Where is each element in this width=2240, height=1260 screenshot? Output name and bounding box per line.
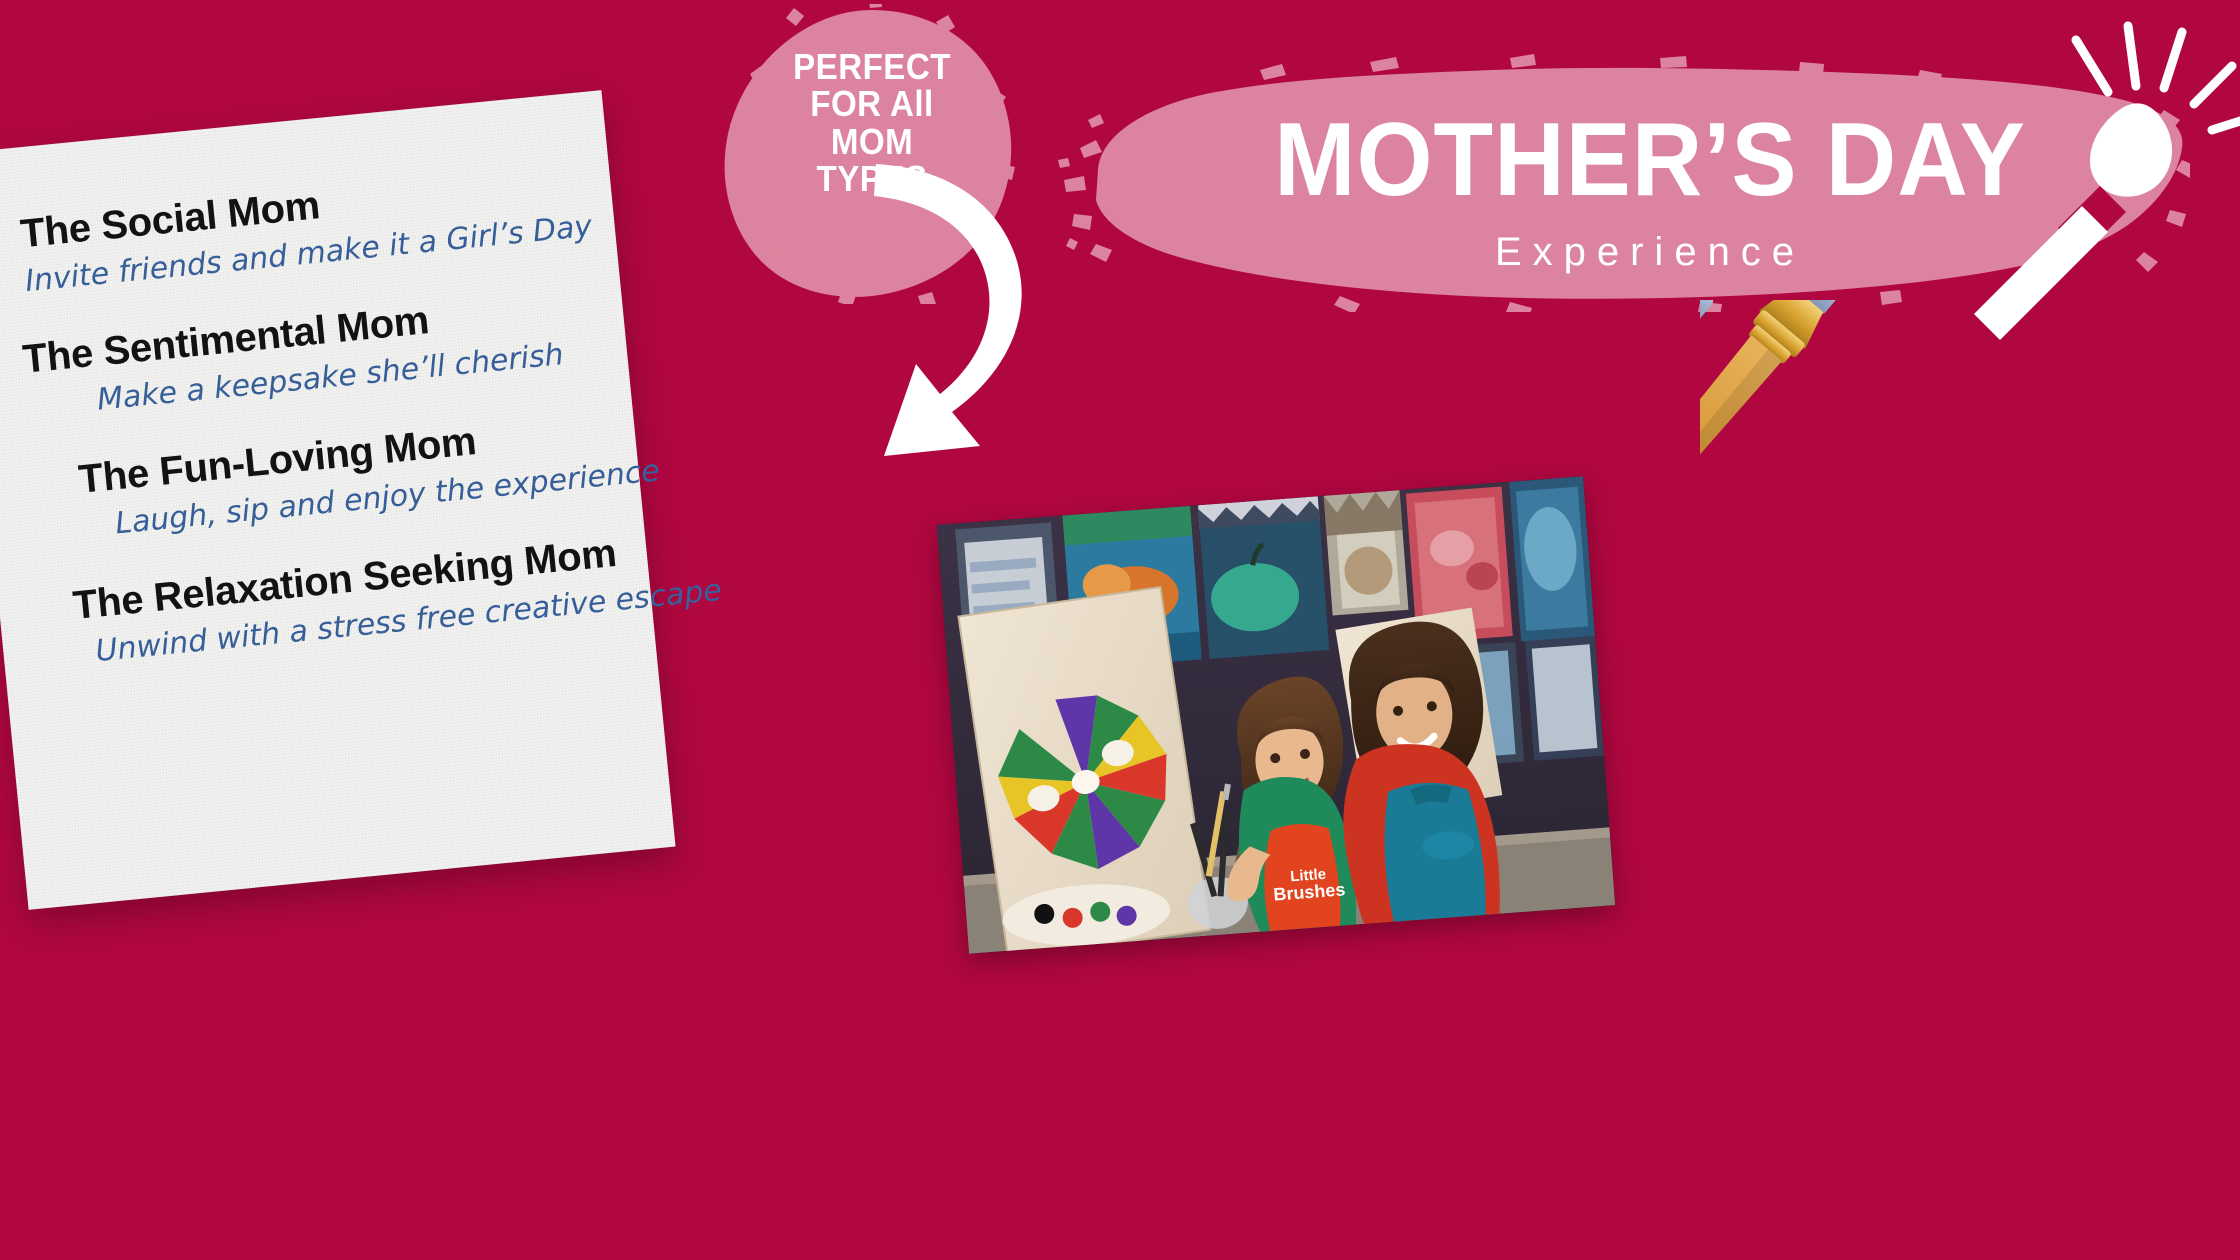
page-subtitle: Experience [1230,230,2070,275]
photo-content: Little Brushes [937,476,1615,953]
list-item: The Social Mom Invite friends and make i… [9,160,577,299]
list-item: The Fun-Loving Mom Laugh, sip and enjoy … [33,408,601,547]
white-paintbrush-sparkle-icon [1960,0,2240,340]
mom-types-list: The Social Mom Invite friends and make i… [0,90,676,910]
list-item: The Relaxation Seeking Mom Unwind with a… [45,533,613,672]
crossed-paintbrushes-graphic [1700,300,2240,760]
header-title-block: MOTHER’S DAY Experience [1230,108,2070,275]
mother-daughter-painting-photo: Little Brushes [937,476,1615,953]
page-title: MOTHER’S DAY [1255,108,2045,212]
banner-canvas: PERFECTFOR AllMOMTYPES [0,0,2240,1260]
curved-down-left-arrow-icon [820,150,1150,480]
mom-types-card: The Social Mom Invite friends and make i… [0,90,676,910]
list-item: The Sentimental Mom Make a keepsake she’… [21,284,589,423]
